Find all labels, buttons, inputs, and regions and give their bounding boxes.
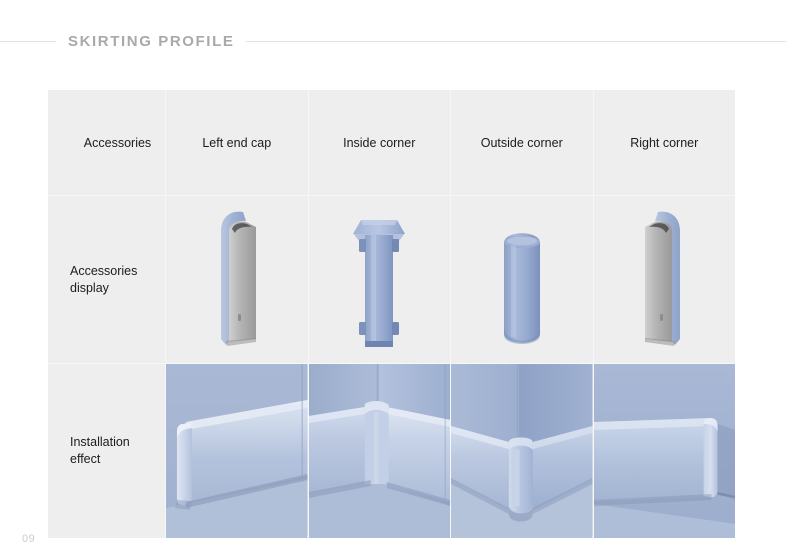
table-header-inside-corner: Inside corner xyxy=(309,90,452,195)
inside-corner-render-icon xyxy=(309,196,451,363)
table-row: Accessories display xyxy=(48,195,735,363)
row-label-accessories-display: Accessories display xyxy=(48,196,166,363)
cell-left-end-cap-display xyxy=(166,196,309,363)
table-header-outside-corner: Outside corner xyxy=(451,90,594,195)
table-header-accessories: Accessories xyxy=(48,90,166,195)
cell-inside-corner-display xyxy=(309,196,452,363)
cell-outside-corner-install xyxy=(451,364,594,538)
header-rule-right xyxy=(246,41,786,42)
row-label-accessories-display-line1: Accessories xyxy=(70,263,137,280)
skirting-accessories-table: Accessories Left end cap Inside corner O… xyxy=(48,90,735,536)
outside-corner-render-icon xyxy=(451,196,593,363)
table-header-outside-corner-label: Outside corner xyxy=(451,136,593,150)
table-header-inside-corner-label: Inside corner xyxy=(309,136,451,150)
row-label-accessories-display-line2: display xyxy=(70,280,137,297)
table-header-left-end-cap-label: Left end cap xyxy=(166,136,308,150)
cell-inside-corner-install xyxy=(309,364,452,538)
page-header: SKIRTING PROFILE xyxy=(0,28,800,54)
right-corner-render-icon xyxy=(594,196,736,363)
table-header-right-corner-label: Right corner xyxy=(594,136,736,150)
cell-right-corner-display xyxy=(594,196,736,363)
page-title: SKIRTING PROFILE xyxy=(56,33,246,50)
table-header-accessories-label: Accessories xyxy=(70,136,165,150)
outside-corner-photo-icon xyxy=(451,364,593,538)
left-end-cap-render-icon xyxy=(166,196,308,363)
cell-right-corner-install xyxy=(594,364,736,538)
inside-corner-photo-icon xyxy=(309,364,451,538)
table-header-left-end-cap: Left end cap xyxy=(166,90,309,195)
left-end-cap-photo-icon xyxy=(166,364,308,538)
row-label-installation-effect-line1: Installation xyxy=(70,434,130,451)
table-row: Installation effect xyxy=(48,363,735,538)
cell-left-end-cap-install xyxy=(166,364,309,538)
page-number: 09 xyxy=(22,533,35,545)
header-rule-left xyxy=(0,41,56,42)
row-label-installation-effect: Installation effect xyxy=(48,364,166,538)
table-header-row: Accessories Left end cap Inside corner O… xyxy=(48,90,735,195)
right-corner-photo-icon xyxy=(594,364,736,538)
row-label-installation-effect-line2: effect xyxy=(70,451,130,468)
table-header-right-corner: Right corner xyxy=(594,90,736,195)
cell-outside-corner-display xyxy=(451,196,594,363)
